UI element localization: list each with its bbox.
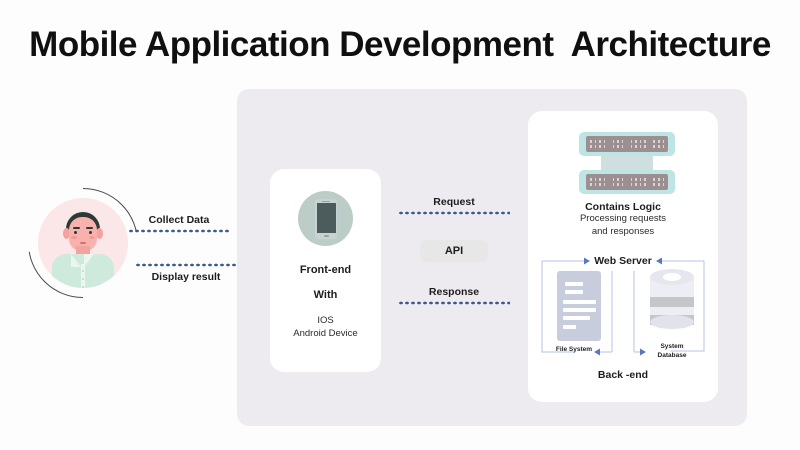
dotted-connector-display-result (135, 263, 237, 267)
diagram-canvas: Mobile Application Development Architect… (0, 0, 800, 450)
api-box[interactable]: API (420, 240, 488, 262)
avatar-collar-left (71, 254, 81, 267)
frontend-text-block: Front-end With IOS Android Device (270, 264, 381, 340)
avatar-eye-right (89, 231, 92, 234)
logic-subline-2: and responses (528, 226, 718, 239)
api-column: Request API Response (398, 196, 510, 305)
frontend-title: Front-end (270, 264, 381, 276)
dotted-connector-collect-data (128, 229, 230, 233)
page-title: Mobile Application Development Architect… (0, 25, 800, 65)
avatar-brow-right (86, 227, 93, 229)
mobile-phone-icon (298, 191, 353, 246)
frontend-with-label: With (270, 289, 381, 301)
avatar-brow-left (73, 227, 80, 229)
web-server-row: Web Server (528, 254, 718, 268)
avatar-ear-right (96, 228, 103, 239)
database-top (650, 269, 694, 285)
phone-body (315, 199, 337, 239)
system-database-label: System Database (634, 343, 710, 360)
server-stack-icon (579, 132, 675, 194)
file-document-icon (557, 271, 601, 341)
system-database-label-line1: System (634, 343, 710, 352)
frontend-card: Front-end With IOS Android Device (270, 169, 381, 372)
backend-footer-label: Back -end (528, 369, 718, 381)
server-front-panel (586, 136, 668, 152)
avatar-mouth (80, 242, 86, 244)
logic-subline-1: Processing requests (528, 213, 718, 226)
flow-label-request: Request (398, 196, 510, 208)
flow-label-display-result: Display result (135, 271, 237, 283)
server-unit-top (579, 132, 675, 156)
server-unit-bottom (579, 170, 675, 194)
database-bottom (650, 315, 694, 329)
server-led-row (590, 178, 664, 181)
web-server-label: Web Server (594, 255, 652, 267)
frontend-platform-ios: IOS (270, 314, 381, 327)
request-flow: Request (398, 196, 510, 215)
file-system-label: File System (532, 346, 616, 353)
avatar-shirt-button (82, 286, 84, 288)
logic-title: Contains Logic (528, 201, 718, 213)
avatar-eye-left (74, 231, 77, 234)
database-cylinder-icon (650, 269, 694, 331)
phone-home-button (324, 235, 329, 237)
user-avatar (38, 198, 128, 288)
backend-logic-text: Contains Logic Processing requests and r… (528, 201, 718, 238)
server-led-row (590, 140, 664, 143)
avatar-circle (38, 198, 128, 288)
avatar-shirt-button (82, 270, 84, 272)
response-flow: Response (398, 286, 510, 305)
frontend-platform-android: Android Device (270, 327, 381, 340)
avatar-shirt-placket (81, 264, 85, 288)
avatar-shirt-button (82, 278, 84, 280)
server-connector (601, 155, 653, 171)
phone-screen (317, 203, 336, 233)
flow-label-collect-data: Collect Data (128, 214, 230, 226)
server-led-row (590, 145, 664, 148)
server-led-row (590, 183, 664, 186)
avatar-collar-right (84, 254, 94, 267)
server-front-panel (586, 174, 668, 190)
backend-card: Contains Logic Processing requests and r… (528, 111, 718, 402)
dotted-connector-request (398, 211, 510, 215)
flow-collect-data: Collect Data (128, 214, 230, 233)
system-database-label-line2: Database (634, 352, 710, 361)
avatar-blush-right (89, 236, 95, 239)
flow-label-response: Response (398, 286, 510, 298)
database-top-hole (663, 273, 681, 281)
database-band (650, 297, 694, 307)
phone-speaker (322, 201, 330, 203)
dotted-connector-response (398, 301, 510, 305)
avatar-blush-left (71, 236, 77, 239)
flow-display-result: Display result (135, 263, 237, 283)
